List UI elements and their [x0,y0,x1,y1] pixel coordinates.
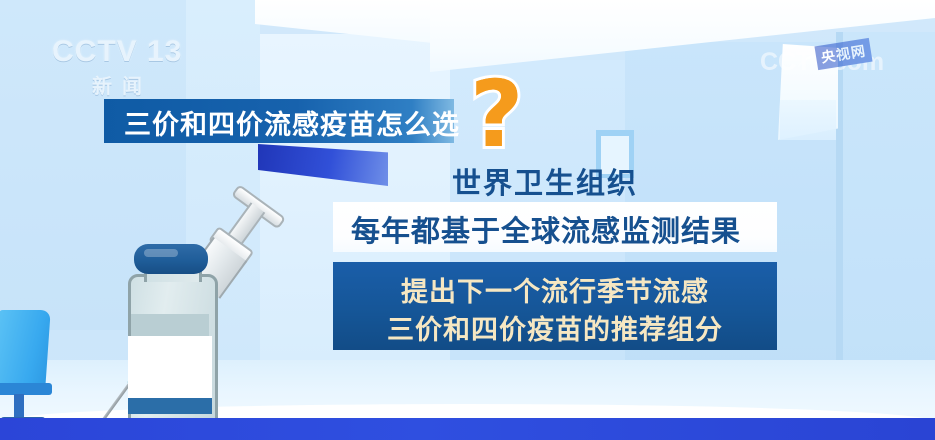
vaccine-vial [120,238,220,433]
basis-band: 每年都基于全球流感监测结果 [333,202,777,252]
bottom-accent-bar [0,418,935,440]
clinic-chair-seat [0,383,52,395]
title-banner-text: 三价和四价流感疫苗怎么选 [124,103,460,142]
broadcast-frame: CCTV 13 新闻 CCTV.com 央视网 三价和四价流感疫苗怎么选 ? ?… [0,0,935,440]
cctv13-logo-text: CCTV 13 [52,36,192,68]
vial-cap-highlight [144,249,178,257]
vial-band [128,398,212,414]
question-mark-icon: ? ? [470,72,550,158]
cctv13-logo: CCTV 13 新闻 [52,36,192,98]
vial-label [128,336,212,398]
vial-liquid-surface [131,314,209,336]
who-line: 世界卫生组织 [452,160,638,202]
question-mark-fill: ? [470,72,523,158]
clinic-chair-backrest [0,310,51,388]
conclusion-line-1: 提出下一个流行季节流感 [333,270,777,309]
conclusion-line-2: 三价和四价疫苗的推荐组分 [333,308,777,347]
cctv-com-watermark: CCTV.com 央视网 [760,48,910,88]
basis-line: 每年都基于全球流感监测结果 [351,208,741,250]
window-light-panel-lower [780,100,836,140]
cctv13-logo-subtitle: 新闻 [52,70,192,99]
title-banner: 三价和四价流感疫苗怎么选 [104,99,454,143]
conclusion-band: 提出下一个流行季节流感 三价和四价疫苗的推荐组分 [333,262,777,350]
